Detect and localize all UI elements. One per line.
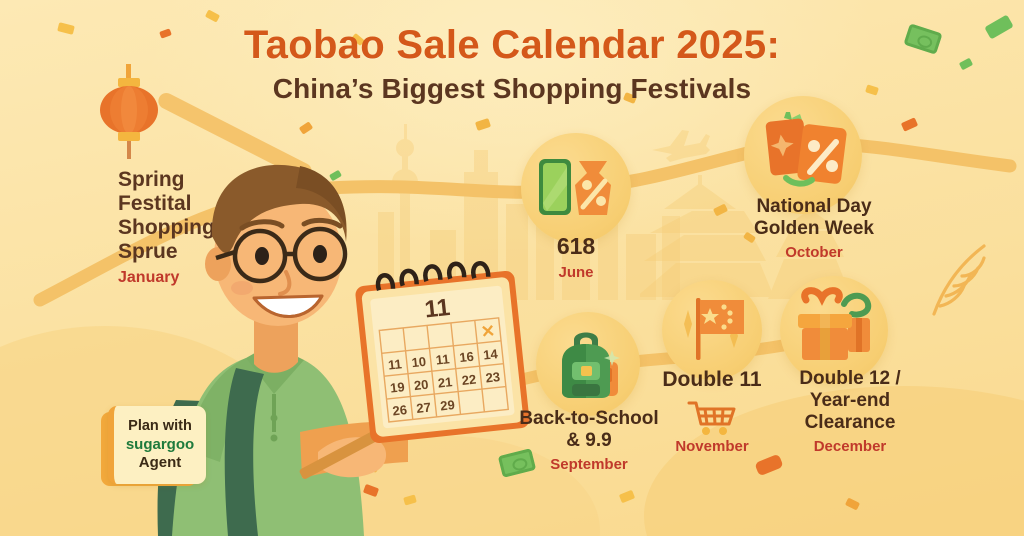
red-envelope-coupon-icon xyxy=(760,108,852,200)
event-month: November xyxy=(646,438,778,455)
event-name-line: National Day xyxy=(724,196,904,218)
shopping-cart-icon xyxy=(685,398,739,438)
leaf-decoration-icon xyxy=(926,238,996,318)
event-name: Double 11 xyxy=(646,368,778,392)
title-block: Taobao Sale Calendar 2025: China’s Bigge… xyxy=(0,24,1024,105)
node-month-text: November xyxy=(646,438,778,455)
svg-text:10: 10 xyxy=(411,354,427,370)
svg-text:11: 11 xyxy=(387,356,402,372)
event-name: 618 xyxy=(516,233,636,260)
svg-text:26: 26 xyxy=(392,402,408,418)
backpack-icon xyxy=(548,322,632,406)
svg-text:22: 22 xyxy=(461,372,477,388)
svg-text:16: 16 xyxy=(459,349,475,365)
event-month: June xyxy=(516,264,636,281)
node-text: 618 June xyxy=(516,233,636,281)
badge-line-1: Plan with xyxy=(128,418,192,435)
node-text: Double 11 xyxy=(646,368,778,392)
badge-line-3: Agent xyxy=(139,454,182,472)
svg-text:27: 27 xyxy=(416,400,432,416)
event-name-line: Clearance xyxy=(768,412,932,434)
phone-discount-tag-icon xyxy=(533,145,619,231)
node-text: National Day Golden Week October xyxy=(724,196,904,261)
event-month: December xyxy=(768,438,932,455)
svg-text:29: 29 xyxy=(440,397,456,413)
badge-brand-name: sugargoo xyxy=(126,436,194,454)
infographic-canvas: Taobao Sale Calendar 2025: China’s Bigge… xyxy=(0,0,1024,536)
event-name-line: Year-end xyxy=(768,390,932,412)
event-name-line: Golden Week xyxy=(724,218,904,240)
china-flag-icon xyxy=(674,288,754,368)
sugargoo-agent-badge[interactable]: Plan with sugargoo Agent xyxy=(108,406,206,484)
calendar-month-number: 11 xyxy=(423,294,451,324)
svg-text:23: 23 xyxy=(485,369,501,385)
svg-text:11: 11 xyxy=(435,351,450,367)
event-month: October xyxy=(724,244,904,261)
page-subtitle: China’s Biggest Shopping Festivals xyxy=(0,73,1024,105)
airplane-silhouette xyxy=(650,128,710,162)
event-name-line: Double 12 / xyxy=(768,368,932,390)
node-text: Double 12 / Year-end Clearance December xyxy=(768,368,932,455)
event-month: September xyxy=(504,456,674,473)
event-name-line: Back-to-School xyxy=(504,408,674,430)
calendar-marked-day: ✕ xyxy=(480,321,496,341)
svg-text:14: 14 xyxy=(482,346,499,363)
gift-box-icon xyxy=(790,284,882,376)
svg-text:21: 21 xyxy=(437,374,453,390)
svg-text:19: 19 xyxy=(389,379,405,395)
page-title: Taobao Sale Calendar 2025: xyxy=(0,24,1024,67)
svg-text:20: 20 xyxy=(413,377,429,393)
